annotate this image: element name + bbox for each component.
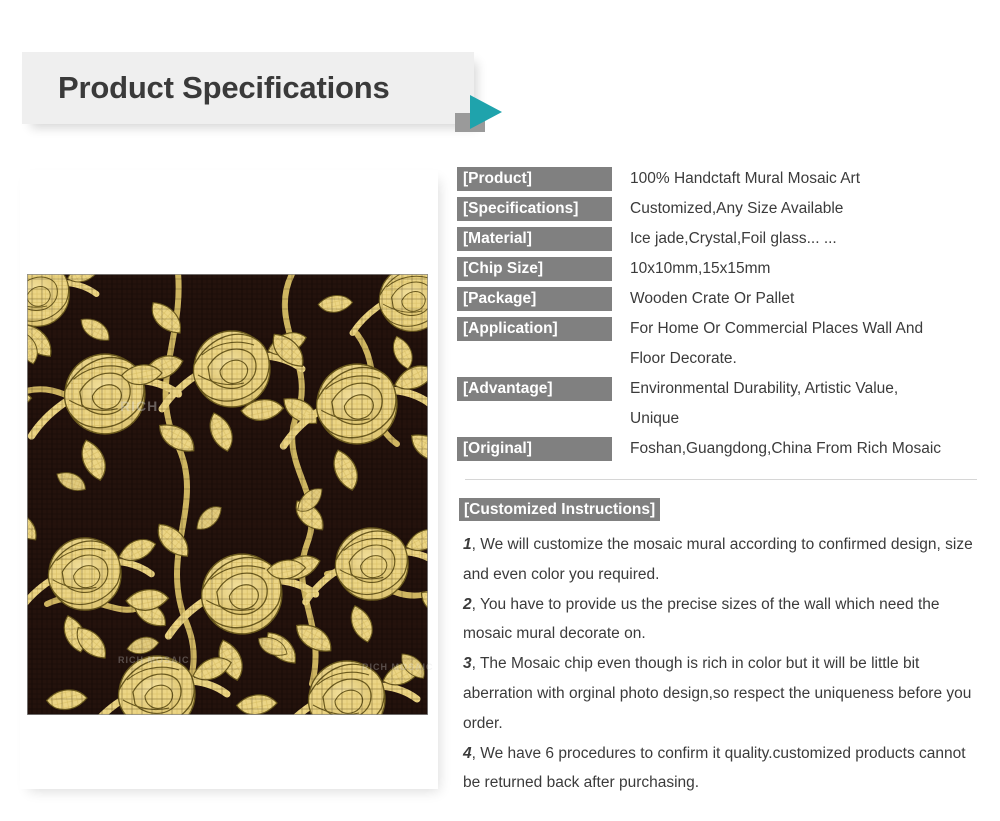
spec-label: [Chip Size] — [457, 257, 612, 281]
spec-label: [Specifications] — [457, 197, 612, 221]
spec-row: [Package]Wooden Crate Or Pallet — [457, 287, 977, 311]
spec-row: [Chip Size]10x10mm,15x15mm — [457, 257, 977, 281]
spec-value: 10x10mm,15x15mm — [612, 257, 977, 281]
spec-value: 100% Handctaft Mural Mosaic Art — [612, 167, 977, 191]
instruction-number: 4 — [463, 745, 472, 762]
specifications-table: [Product]100% Handctaft Mural Mosaic Art… — [457, 167, 977, 467]
mosaic-pattern-illustration — [27, 274, 428, 715]
instruction-number: 2 — [463, 596, 472, 613]
instruction-text: , We have 6 procedures to confirm it qua… — [463, 745, 966, 792]
spec-label: [Advantage] — [457, 377, 612, 401]
spec-label: [Application] — [457, 317, 612, 341]
instruction-text: , You have to provide us the precise siz… — [463, 596, 940, 643]
triangle-right-icon — [470, 95, 502, 129]
spec-value-line: Customized,Any Size Available — [630, 200, 843, 217]
spec-row: [Application]For Home Or Commercial Plac… — [457, 317, 977, 371]
spec-value-line: 10x10mm,15x15mm — [630, 260, 770, 277]
instruction-item: 2, You have to provide us the precise si… — [463, 590, 983, 650]
spec-label: [Package] — [457, 287, 612, 311]
instruction-number: 3 — [463, 655, 472, 672]
spec-value: Ice jade,Crystal,Foil glass... ... — [612, 227, 977, 251]
section-divider — [465, 479, 977, 480]
spec-value: Customized,Any Size Available — [612, 197, 977, 221]
instruction-text: , We will customize the mosaic mural acc… — [463, 536, 973, 583]
spec-row: [Material]Ice jade,Crystal,Foil glass...… — [457, 227, 977, 251]
spec-value-line: 100% Handctaft Mural Mosaic Art — [630, 170, 860, 187]
spec-value-line: Wooden Crate Or Pallet — [630, 290, 794, 307]
spec-value-extra-line: Unique — [630, 407, 977, 431]
instruction-item: 1, We will customize the mosaic mural ac… — [463, 530, 983, 590]
spec-value: For Home Or Commercial Places Wall AndFl… — [612, 317, 977, 371]
instruction-item: 3, The Mosaic chip even though is rich i… — [463, 649, 983, 738]
spec-row: [Specifications]Customized,Any Size Avai… — [457, 197, 977, 221]
spec-label: [Original] — [457, 437, 612, 461]
header-banner: Product Specifications — [22, 52, 474, 124]
spec-row: [Product]100% Handctaft Mural Mosaic Art — [457, 167, 977, 191]
spec-value: Wooden Crate Or Pallet — [612, 287, 977, 311]
spec-value-extra-line: Floor Decorate. — [630, 347, 977, 371]
instruction-number: 1 — [463, 536, 472, 553]
spec-label: [Material] — [457, 227, 612, 251]
page-title: Product Specifications — [58, 70, 390, 106]
instruction-item: 4, We have 6 procedures to confirm it qu… — [463, 739, 983, 799]
spec-row: [Original]Foshan,Guangdong,China From Ri… — [457, 437, 977, 461]
spec-value: Foshan,Guangdong,China From Rich Mosaic — [612, 437, 977, 461]
spec-value: Environmental Durability, Artistic Value… — [612, 377, 977, 431]
spec-value-line: Ice jade,Crystal,Foil glass... ... — [630, 230, 837, 247]
spec-value-line: Environmental Durability, Artistic Value… — [630, 380, 898, 397]
product-photo — [27, 274, 428, 715]
instruction-text: , The Mosaic chip even though is rich in… — [463, 655, 971, 732]
spec-label: [Product] — [457, 167, 612, 191]
spec-value-line: Foshan,Guangdong,China From Rich Mosaic — [630, 440, 941, 457]
spec-value-line: For Home Or Commercial Places Wall And — [630, 320, 923, 337]
spec-row: [Advantage]Environmental Durability, Art… — [457, 377, 977, 431]
instructions-heading: [Customized Instructions] — [459, 498, 660, 521]
instructions-list: 1, We will customize the mosaic mural ac… — [463, 530, 983, 798]
